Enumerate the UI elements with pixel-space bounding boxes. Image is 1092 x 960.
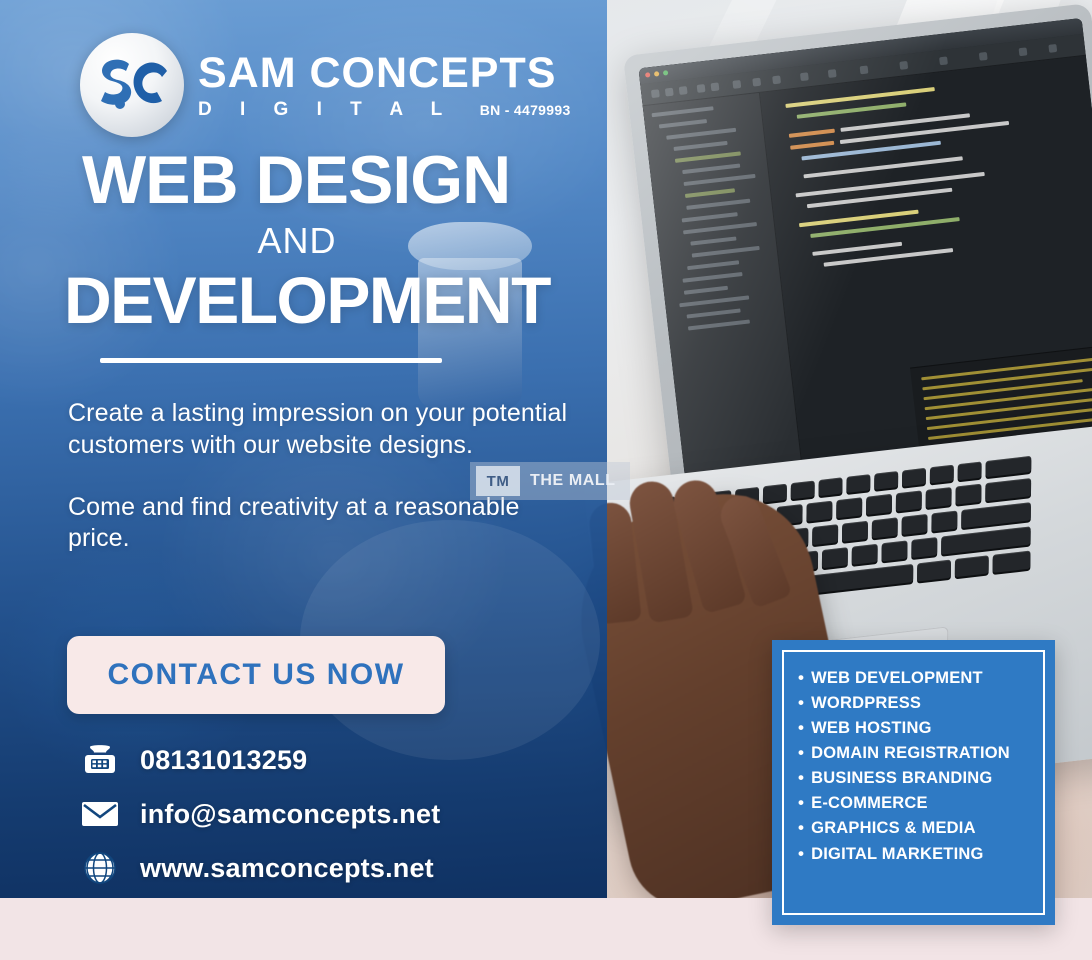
service-label: WEB DEVELOPMENT	[811, 666, 983, 691]
the-mall-badge-icon: TM	[476, 466, 520, 496]
cta-label: CONTACT US NOW	[107, 658, 404, 692]
brand-sub-row: D I G I T A L BN - 4479993	[198, 100, 571, 119]
service-label: WORDPRESS	[811, 691, 921, 716]
flyer-canvas: SAM CONCEPTS D I G I T A L BN - 4479993 …	[0, 0, 1092, 960]
services-box: • WEB DEVELOPMENT • WORDPRESS • WEB HOST…	[772, 640, 1055, 925]
bullet-icon: •	[798, 744, 804, 761]
service-item: • GRAPHICS & MEDIA	[798, 816, 1033, 841]
headline-connector: AND	[82, 213, 512, 269]
headline-block: WEB DESIGN AND DEVELOPMENT	[82, 148, 552, 332]
service-label: BUSINESS BRANDING	[811, 766, 992, 791]
brand-name: SAM CONCEPTS	[198, 52, 571, 95]
contact-row-phone[interactable]: 08131013259	[78, 740, 440, 780]
service-item: • WEB DEVELOPMENT	[798, 666, 1033, 691]
envelope-icon	[78, 794, 122, 834]
bullet-icon: •	[798, 669, 804, 686]
sc-monogram-sphere-logo	[80, 33, 184, 137]
service-item: • DOMAIN REGISTRATION	[798, 741, 1033, 766]
contact-row-email[interactable]: info@samconcepts.net	[78, 794, 440, 834]
service-item: • E-COMMERCE	[798, 791, 1033, 816]
contact-website-value: www.samconcepts.net	[140, 853, 434, 884]
contact-row-website[interactable]: www.samconcepts.net	[78, 848, 440, 888]
contact-email-value: info@samconcepts.net	[140, 799, 440, 830]
bullet-icon: •	[798, 819, 804, 836]
service-label: DIGITAL MARKETING	[811, 842, 983, 867]
the-mall-watermark: TM THE MALL	[470, 462, 630, 500]
bullet-icon: •	[798, 769, 804, 786]
service-label: WEB HOSTING	[811, 716, 931, 741]
service-label: GRAPHICS & MEDIA	[811, 816, 976, 841]
service-item: • BUSINESS BRANDING	[798, 766, 1033, 791]
brand-logo: SAM CONCEPTS D I G I T A L BN - 4479993	[80, 33, 571, 137]
bullet-icon: •	[798, 794, 804, 811]
service-label: DOMAIN REGISTRATION	[811, 741, 1010, 766]
contact-list: 08131013259 info@samconcepts.net	[78, 740, 440, 888]
body-paragraph-1: Create a lasting impression on your pote…	[68, 398, 578, 462]
headline-line-1: WEB DESIGN	[82, 148, 552, 213]
telephone-icon	[78, 740, 122, 780]
services-list: • WEB DEVELOPMENT • WORDPRESS • WEB HOST…	[782, 650, 1045, 915]
brand-lockup: SAM CONCEPTS D I G I T A L BN - 4479993	[198, 52, 571, 119]
service-item: • DIGITAL MARKETING	[798, 842, 1033, 867]
bullet-icon: •	[798, 719, 804, 736]
the-mall-label: THE MALL	[526, 472, 630, 490]
contact-phone-value: 08131013259	[140, 745, 307, 776]
contact-us-now-button[interactable]: CONTACT US NOW	[67, 636, 445, 714]
headline-line-2: DEVELOPMENT	[64, 269, 552, 332]
globe-icon	[78, 848, 122, 888]
bullet-icon: •	[798, 845, 804, 862]
service-item: • WEB HOSTING	[798, 716, 1033, 741]
bullet-icon: •	[798, 694, 804, 711]
service-item: • WORDPRESS	[798, 691, 1033, 716]
headline-divider-rule	[100, 358, 442, 363]
brand-registration: BN - 4479993	[480, 103, 571, 117]
brand-tagline: D I G I T A L	[198, 100, 454, 119]
service-label: E-COMMERCE	[811, 791, 928, 816]
body-paragraph-2: Come and find creativity at a reasonable…	[68, 492, 578, 556]
